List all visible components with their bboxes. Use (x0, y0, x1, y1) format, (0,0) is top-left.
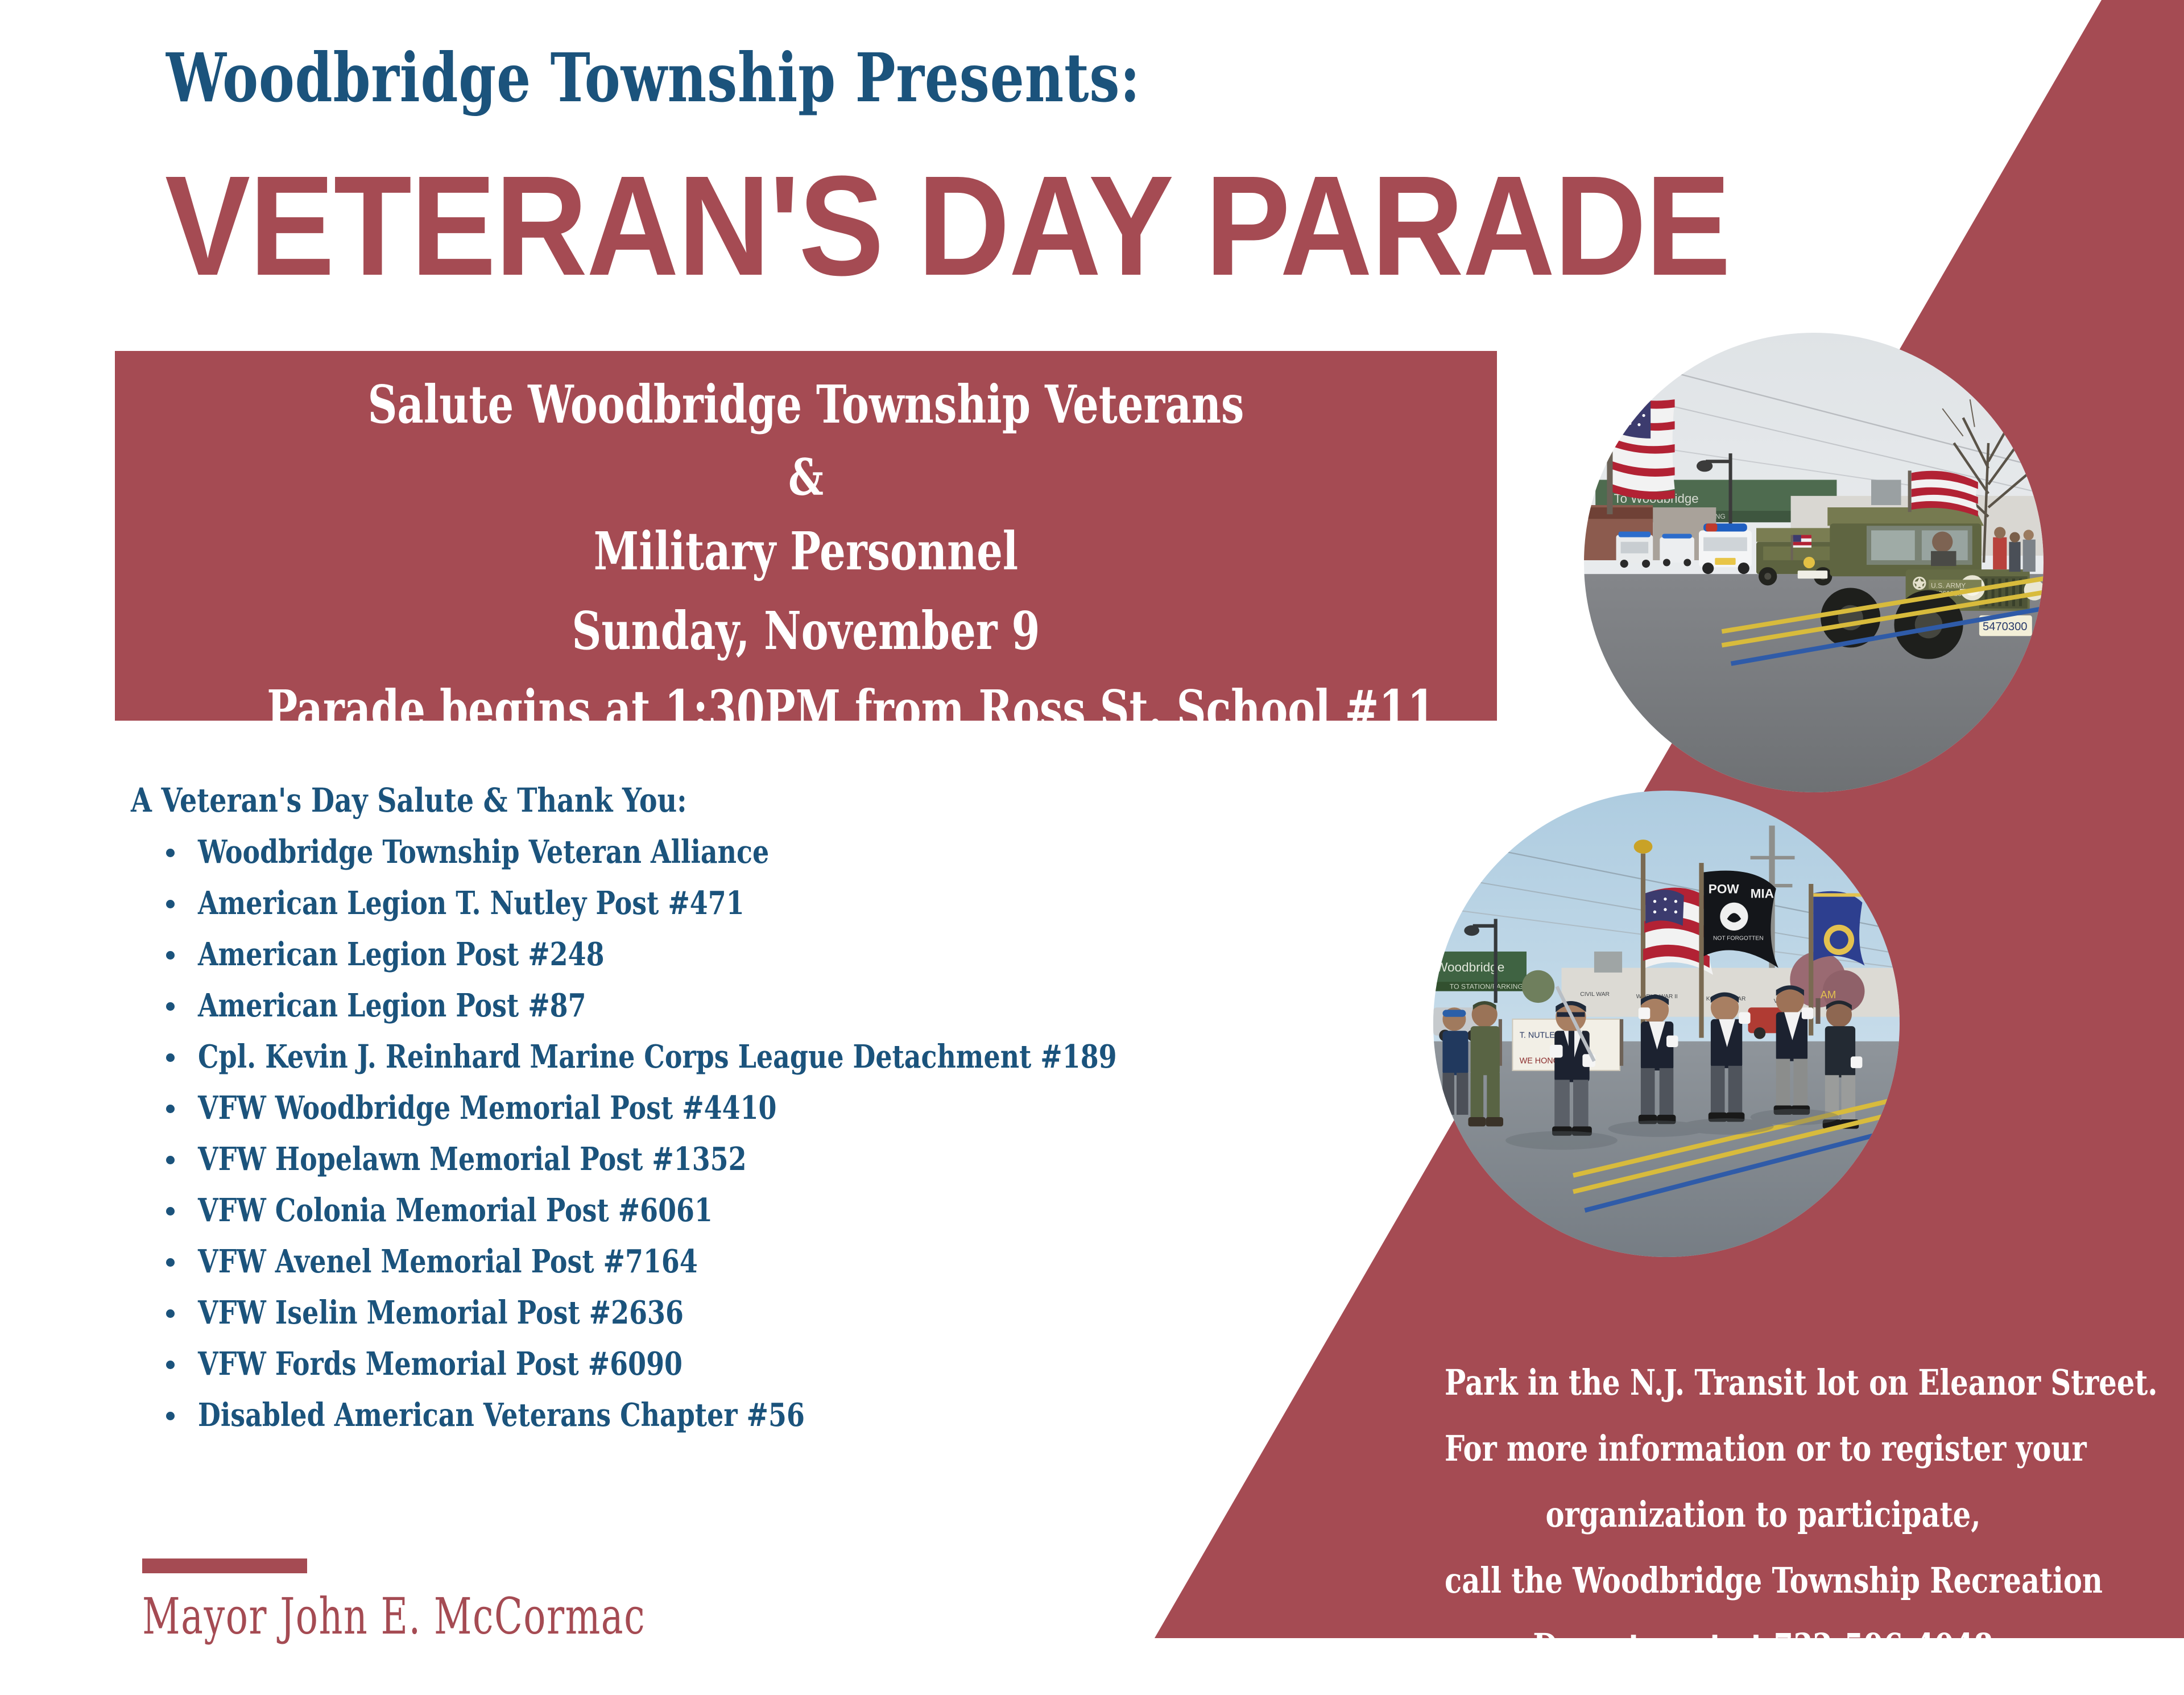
list-item: Woodbridge Township Veteran Alliance (131, 836, 1439, 868)
svg-text:U.S. ARMY: U.S. ARMY (1931, 581, 1966, 589)
organization-label: VFW Colonia Memorial Post #6061 (198, 1194, 713, 1226)
svg-text:AM: AM (1821, 989, 1836, 1001)
svg-text:5470300: 5470300 (1983, 621, 2028, 633)
list-item: VFW Avenel Memorial Post #7164 (131, 1246, 1439, 1278)
page-title: VETERAN'S DAY PARADE (165, 155, 1730, 297)
list-item: American Legion Post #87 (131, 990, 1439, 1022)
event-details-banner: Salute Woodbridge Township Veterans & Mi… (115, 351, 1497, 721)
bullet-icon (166, 1412, 175, 1420)
banner-military-line: Military Personnel (267, 525, 1345, 577)
list-item: VFW Colonia Memorial Post #6061 (131, 1194, 1439, 1226)
contact-phone-line: Department at 732-596-4048 (1445, 1629, 2082, 1664)
list-item: VFW Hopelawn Memorial Post #1352 (131, 1143, 1439, 1175)
organization-label: American Legion Post #87 (198, 990, 586, 1022)
list-item: Cpl. Kevin J. Reinhard Marine Corps Leag… (131, 1041, 1439, 1073)
bullet-icon (166, 1361, 175, 1369)
signature-rule (142, 1558, 307, 1573)
list-item: VFW Fords Memorial Post #6090 (131, 1348, 1439, 1380)
organization-label: VFW Fords Memorial Post #6090 (198, 1348, 682, 1380)
organization-label: Cpl. Kevin J. Reinhard Marine Corps Leag… (198, 1041, 1117, 1073)
organization-label: VFW Avenel Memorial Post #7164 (198, 1246, 698, 1278)
parking-and-contact-info: Park in the N.J. Transit lot on Eleanor … (1365, 1365, 2161, 1695)
bullet-icon (166, 1258, 175, 1267)
organization-label: VFW Woodbridge Memorial Post #4410 (198, 1092, 776, 1124)
svg-text:MIA: MIA (1751, 887, 1774, 901)
bullet-icon (166, 1207, 175, 1216)
salute-heading: A Veteran's Day Salute & Thank You: (131, 784, 1203, 817)
color-guard-photo: Woodbridge TO STATION/PARKING CIVIL WAR … (1433, 791, 1900, 1257)
svg-text:T. NUTLEY: T. NUTLEY (1520, 1031, 1561, 1040)
organization-label: VFW Iselin Memorial Post #2636 (198, 1297, 684, 1329)
list-item: VFW Woodbridge Memorial Post #4410 (131, 1092, 1439, 1124)
organization-label: Disabled American Veterans Chapter #56 (198, 1399, 805, 1431)
list-item: American Legion T. Nutley Post #471 (131, 887, 1439, 919)
bullet-icon (166, 1105, 175, 1113)
organization-label: American Legion Post #248 (198, 939, 605, 970)
parking-line-1: Park in the N.J. Transit lot on Eleanor … (1445, 1365, 2082, 1400)
banner-salute-line: Salute Woodbridge Township Veterans (267, 378, 1345, 431)
svg-text:CIVIL WAR: CIVIL WAR (1580, 991, 1610, 998)
parking-line-3: organization to participate, (1445, 1497, 2082, 1532)
bullet-icon (166, 900, 175, 908)
svg-text:TO STATION/PARKING: TO STATION/PARKING (1450, 983, 1523, 991)
svg-text:NOT FORGOTTEN: NOT FORGOTTEN (1713, 935, 1764, 941)
list-item: American Legion Post #248 (131, 939, 1439, 970)
svg-text:POW: POW (1709, 882, 1740, 896)
organization-label: American Legion T. Nutley Post #471 (198, 887, 744, 919)
bullet-icon (166, 849, 175, 857)
mayor-signature-block: Mayor John E. McCormac (142, 1558, 822, 1642)
organization-label: Woodbridge Township Veteran Alliance (198, 836, 769, 868)
veteran-organization-list: Woodbridge Township Veteran Alliance Ame… (131, 836, 1439, 1431)
military-jeeps-parade-photo: To Woodbridge TO STATION/PARKING (1584, 333, 2044, 792)
banner-ampersand: & (267, 452, 1345, 502)
presenter-line: Woodbridge Township Presents: (166, 44, 1140, 111)
parking-line-2: For more information or to register your (1445, 1431, 2082, 1466)
parking-line-4: call the Woodbridge Township Recreation (1445, 1563, 2082, 1598)
salute-section: A Veteran's Day Salute & Thank You: Wood… (131, 784, 1439, 1450)
list-item: VFW Iselin Memorial Post #2636 (131, 1297, 1439, 1329)
bullet-icon (166, 1156, 175, 1164)
bullet-icon (166, 1002, 175, 1011)
mayor-name: Mayor John E. McCormac (142, 1591, 646, 1642)
organization-label: VFW Hopelawn Memorial Post #1352 (198, 1143, 747, 1175)
banner-time-location: Parade begins at 1:30PM from Ross St. Sc… (267, 683, 1345, 735)
bullet-icon (166, 951, 175, 960)
list-item: Disabled American Veterans Chapter #56 (131, 1399, 1439, 1431)
banner-event-date: Sunday, November 9 (267, 605, 1345, 657)
bullet-icon (166, 1309, 175, 1318)
bullet-icon (166, 1053, 175, 1062)
